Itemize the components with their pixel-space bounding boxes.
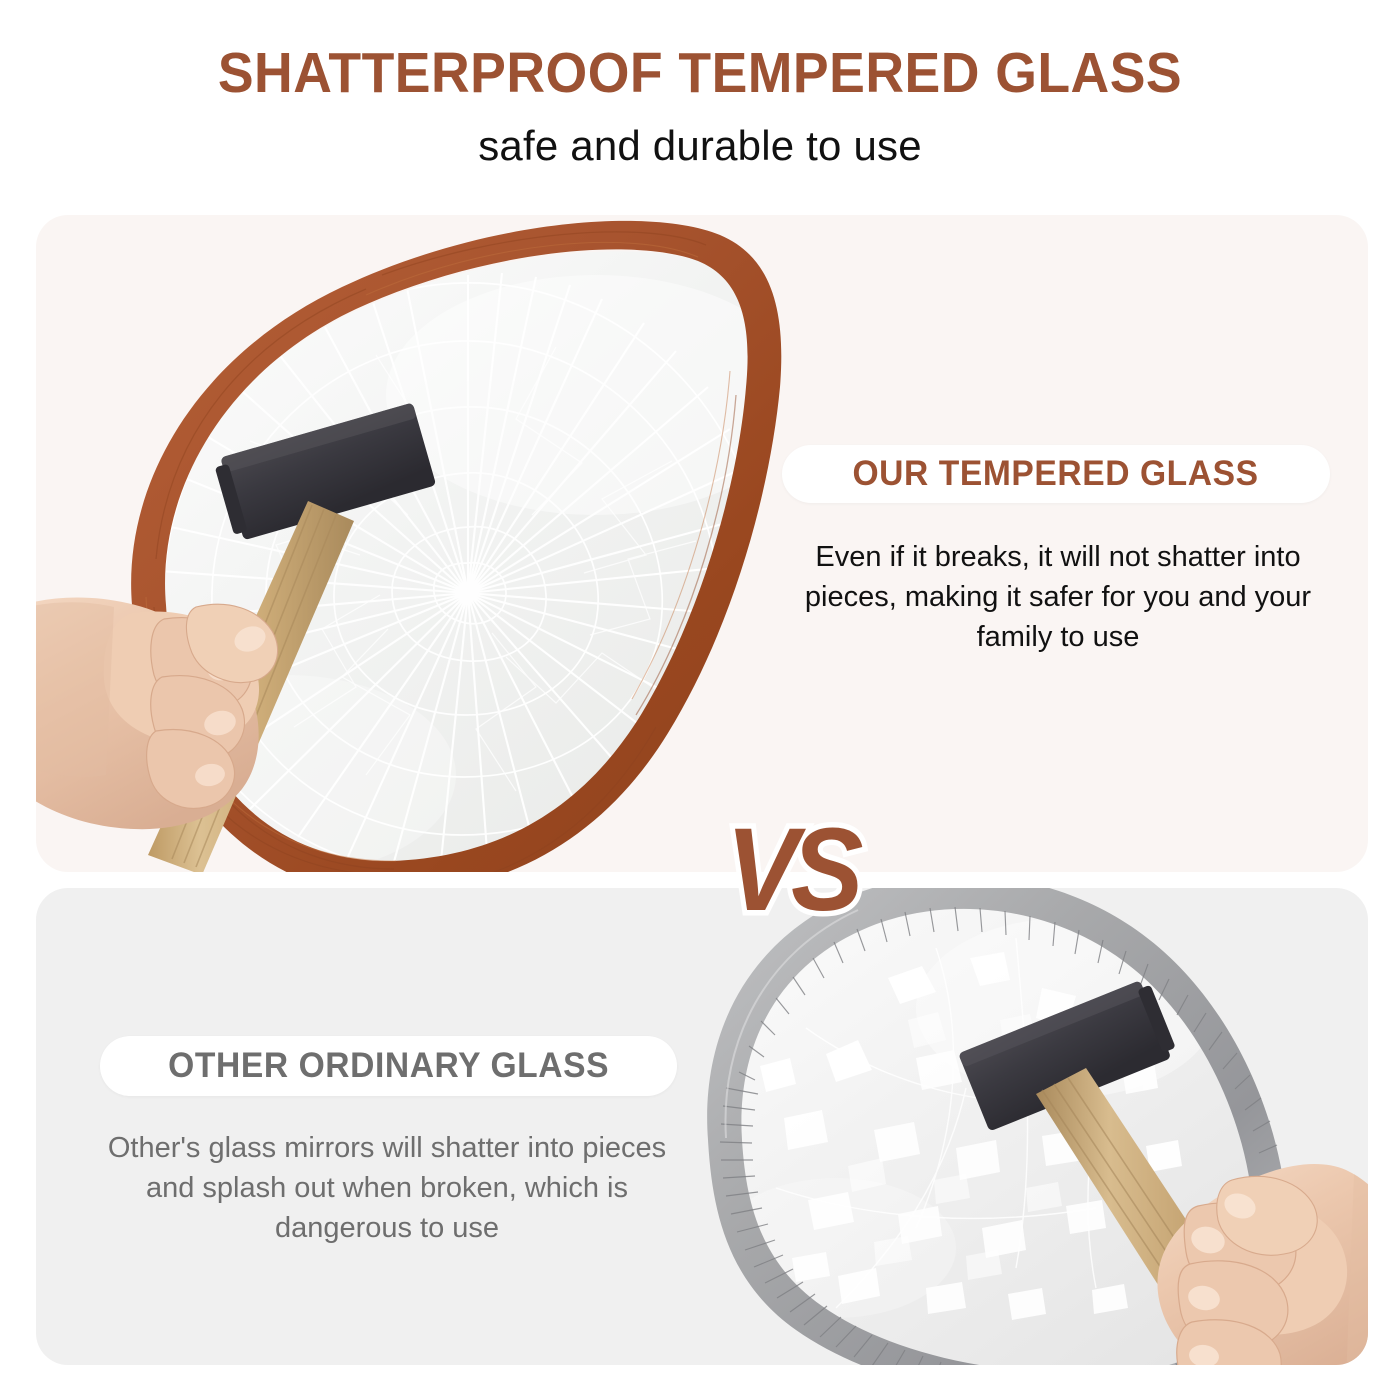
description-other-ordinary-glass: Other's glass mirrors will shatter into … [96,1128,678,1248]
badge-label: OUR TEMPERED GLASS [853,454,1259,494]
panel-our-tempered-glass: OUR TEMPERED GLASS Even if it breaks, it… [36,215,1368,872]
badge-label: OTHER ORDINARY GLASS [168,1046,609,1086]
panel-other-ordinary-glass: OTHER ORDINARY GLASS Other's glass mirro… [36,888,1368,1365]
image-ordinary-glass-mirror [36,888,1368,1365]
badge-our-tempered-glass: OUR TEMPERED GLASS [782,445,1330,503]
page-title: SHATTERPROOF TEMPERED GLASS [42,40,1358,106]
description-our-tempered-glass: Even if it breaks, it will not shatter i… [788,537,1328,657]
badge-other-ordinary-glass: OTHER ORDINARY GLASS [100,1036,677,1096]
page-subtitle: safe and durable to use [0,122,1400,170]
infographic-canvas: SHATTERPROOF TEMPERED GLASS safe and dur… [0,0,1400,1400]
